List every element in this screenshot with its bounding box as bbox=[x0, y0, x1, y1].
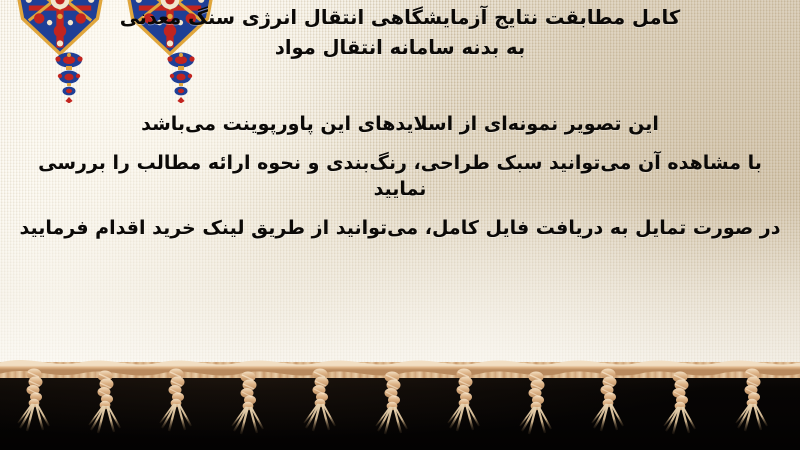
slide-title-line-1: کامل مطابقت نتایج آزمایشگاهی انتقال انرژ… bbox=[120, 6, 680, 29]
body-line-1: این تصویر نمونه‌ای از اسلایدهای این پاور… bbox=[14, 112, 786, 137]
slide-title: کامل مطابقت نتایج آزمایشگاهی انتقال انرژ… bbox=[0, 3, 800, 62]
slide-canvas: کامل مطابقت نتایج آزمایشگاهی انتقال انرژ… bbox=[0, 0, 800, 450]
slide-title-line-2: به بدنه سامانه انتقال مواد bbox=[16, 33, 784, 63]
body-line-3: در صورت تمایل به دریافت فایل کامل، می‌تو… bbox=[14, 216, 786, 241]
carpet-fringe bbox=[0, 358, 800, 450]
body-line-2: با مشاهده آن می‌توانید سبک طراحی، رنگ‌بن… bbox=[14, 151, 786, 202]
slide-body: این تصویر نمونه‌ای از اسلایدهای این پاور… bbox=[0, 112, 800, 242]
